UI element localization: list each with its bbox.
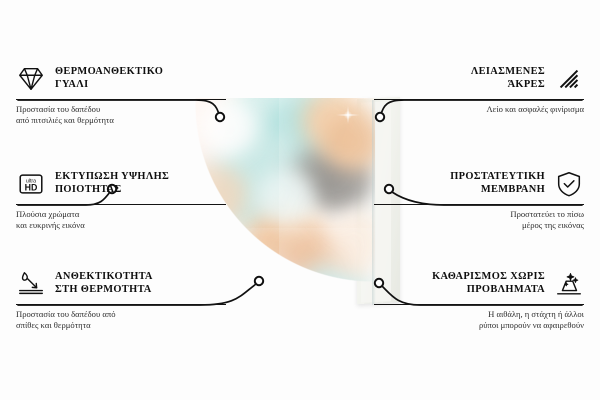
divider bbox=[16, 99, 226, 100]
feature-heat-resistant-glass: ΘΕΡΜΟΑΝΘΕΚΤΙΚΟ ΓΥΑΛΙ Προστασία του δαπέδ… bbox=[16, 64, 226, 126]
feature-subtitle: Πλούσια χρώματα και ευκρινής εικόνα bbox=[16, 209, 226, 231]
feature-subtitle: Λείο και ασφαλές φινίρισμα bbox=[374, 104, 584, 115]
feature-protective-membrane: ΠΡΟΣΤΑΤΕΥΤΙΚΗ ΜΕΜΒΡΑΝΗ Προστατεύει το πί… bbox=[374, 169, 584, 231]
divider bbox=[374, 304, 584, 305]
divider bbox=[374, 204, 584, 205]
feature-title: ΚΑΘΑΡΙΣΜΟΣ ΧΩΡΙΣ ΠΡΟΒΛΗΜΑΤΑ bbox=[432, 269, 545, 297]
feature-subtitle: Προστασία του δαπέδου από πιτσιλιές και … bbox=[16, 104, 226, 126]
infographic-canvas: ΘΕΡΜΟΑΝΘΕΚΤΙΚΟ ΓΥΑΛΙ Προστασία του δαπέδ… bbox=[0, 0, 600, 400]
feature-title: ΕΚΤΥΠΩΣΗ ΥΨΗΛΗΣ ΠΟΙΟΤΗΤΑΣ bbox=[55, 169, 169, 197]
feature-title: ΠΡΟΣΤΑΤΕΥΤΙΚΗ ΜΕΜΒΡΑΝΗ bbox=[450, 169, 545, 197]
feature-high-quality-print: ultra HD ΕΚΤΥΠΩΣΗ ΥΨΗΛΗΣ ΠΟΙΟΤΗΤΑΣ Πλούσ… bbox=[16, 169, 226, 231]
ultra-hd-large-text: HD bbox=[25, 183, 38, 193]
feature-subtitle: Προστασία του δαπέδου από σπίθες και θερ… bbox=[16, 309, 226, 331]
divider bbox=[16, 304, 226, 305]
diamond-icon bbox=[16, 64, 46, 94]
feature-heat-resistance: ΑΝΘΕΚΤΙΚΟΤΗΤΑ ΣΤΗ ΘΕΡΜΟΤΗΤΑ Προστασία το… bbox=[16, 269, 226, 331]
divider bbox=[16, 204, 226, 205]
feature-title: ΑΝΘΕΚΤΙΚΟΤΗΤΑ ΣΤΗ ΘΕΡΜΟΤΗΤΑ bbox=[55, 269, 153, 297]
feature-title: ΛΕΙΑΣΜΕΝΕΣ ΆΚΡΕΣ bbox=[471, 64, 545, 92]
heat-resistance-icon bbox=[16, 269, 46, 299]
easy-clean-icon bbox=[554, 269, 584, 299]
feature-subtitle: Προστατεύει το πίσω μέρος της εικόνας bbox=[374, 209, 584, 231]
polished-edges-icon bbox=[554, 64, 584, 94]
shield-check-icon bbox=[554, 169, 584, 199]
feature-easy-cleaning: ΚΑΘΑΡΙΣΜΟΣ ΧΩΡΙΣ ΠΡΟΒΛΗΜΑΤΑ Η αιθάλη, η … bbox=[374, 269, 584, 331]
feature-polished-edges: ΛΕΙΑΣΜΕΝΕΣ ΆΚΡΕΣ Λείο και ασφαλές φινίρι… bbox=[374, 64, 584, 115]
ultra-hd-icon: ultra HD bbox=[16, 169, 46, 199]
feature-title: ΘΕΡΜΟΑΝΘΕΚΤΙΚΟ ΓΥΑΛΙ bbox=[55, 64, 163, 92]
feature-subtitle: Η αιθάλη, η στάχτη ή άλλοι ρύποι μπορούν… bbox=[374, 309, 584, 331]
divider bbox=[374, 99, 584, 100]
